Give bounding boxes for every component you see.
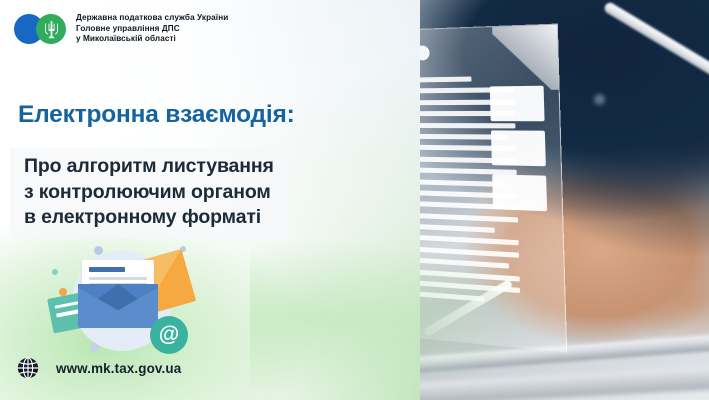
subtitle-line-1: Про алгоритм листування [24,154,274,180]
email-illustration: @ [52,246,242,356]
logo-green-circle [36,14,66,44]
organization-name: Державна податкова служба України Головн… [76,13,228,45]
at-symbol-badge: @ [150,316,188,354]
letter-header-bar [89,267,125,272]
org-line-3: у Миколаївській області [76,34,228,45]
org-line-2: Головне управління ДПС [76,24,228,35]
ukrainian-trident-icon [44,20,59,39]
subtitle-line-2: з контролюючим органом [24,180,274,206]
logo-marks [14,12,68,46]
document-image-placeholders [490,86,548,221]
headline-title: Електронна взаємодія: [18,101,295,129]
subtitle-panel: Про алгоритм листування з контролюючим о… [10,148,288,239]
footer-website[interactable]: www.mk.tax.gov.ua [16,356,181,380]
blue-envelope-icon [78,284,158,328]
decorative-dot [94,246,103,255]
globe-icon [16,356,40,380]
shirt-button [594,94,605,105]
website-url[interactable]: www.mk.tax.gov.ua [56,361,181,376]
organization-logo-block: Державна податкова служба України Головн… [14,12,228,46]
decorative-dot [90,343,99,352]
decorative-dot [52,269,58,275]
tax-service-announcement-banner: Державна податкова служба України Головн… [0,0,709,400]
subtitle-line-3: в електронному форматі [24,205,274,231]
green-streak-accent [250,238,550,398]
org-line-1: Державна податкова служба України [76,13,228,24]
